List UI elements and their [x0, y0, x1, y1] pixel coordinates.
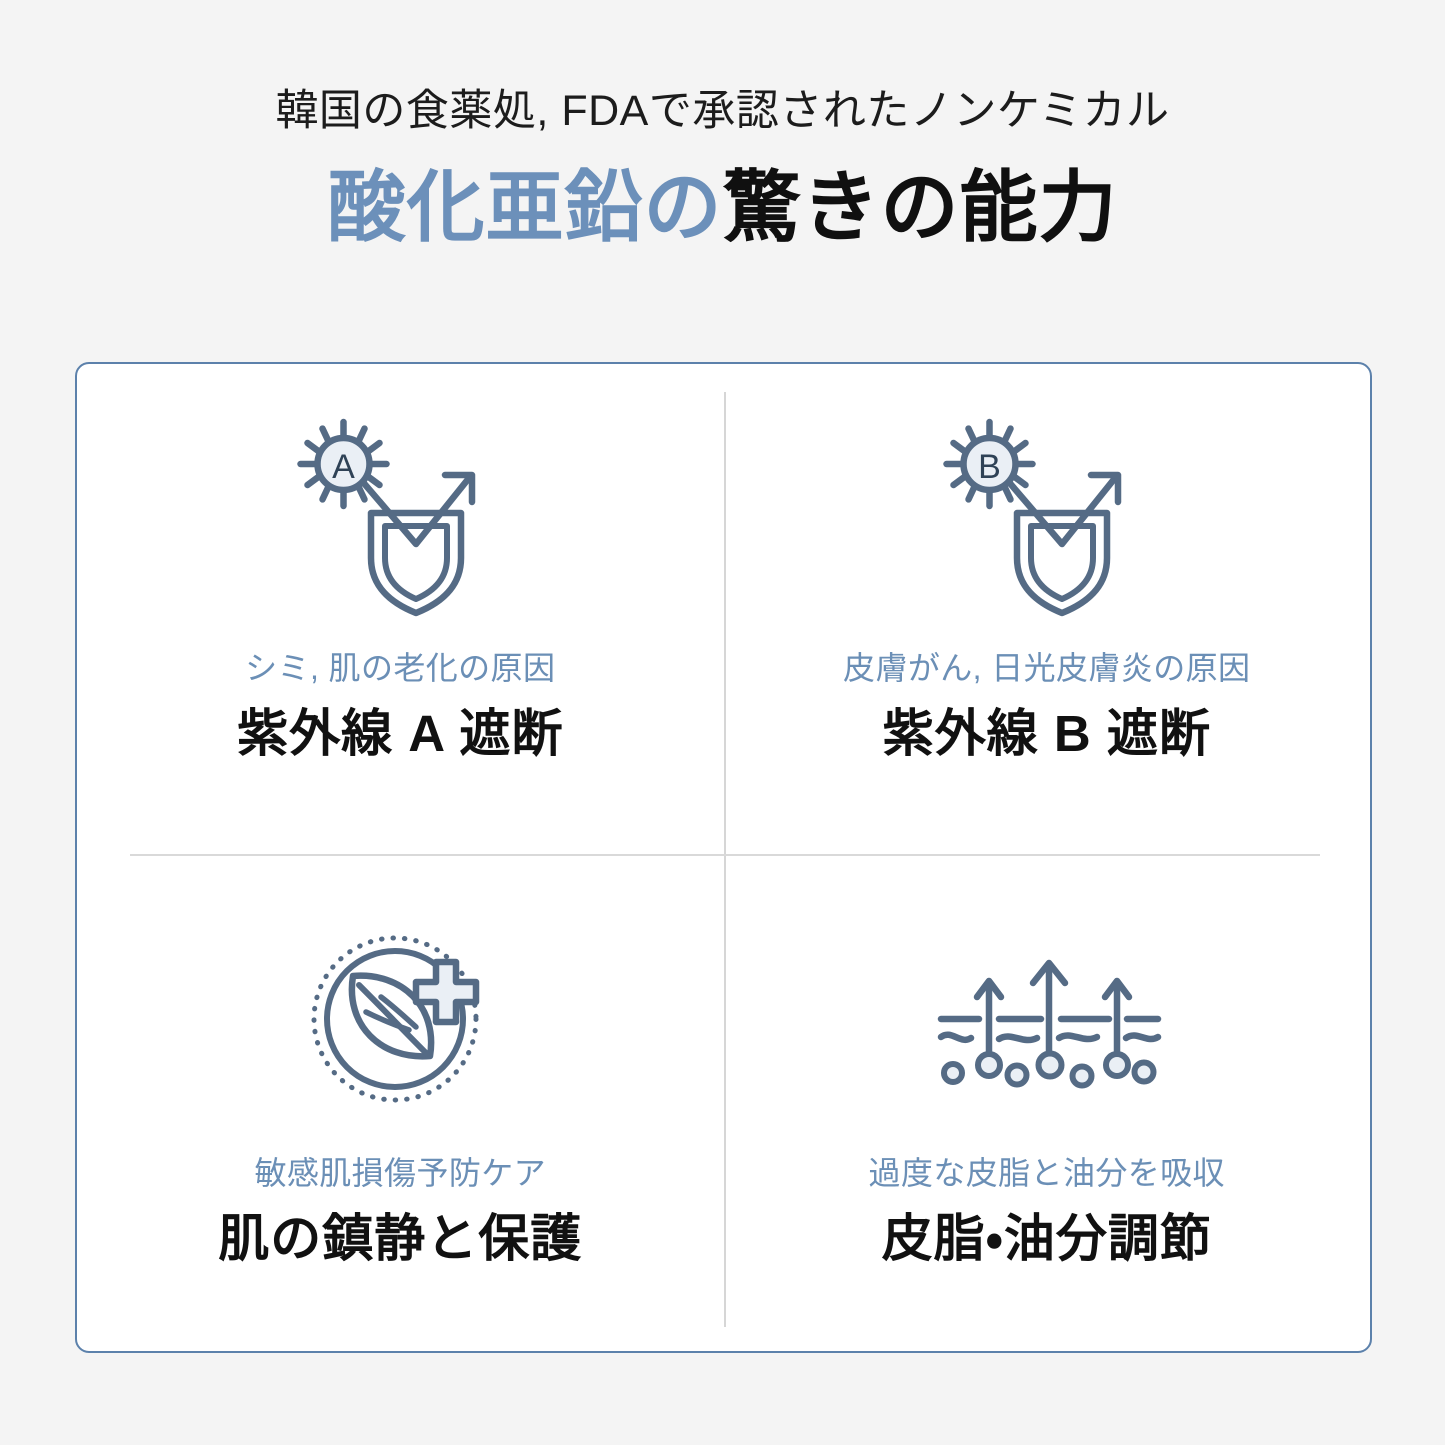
sun-badge-letter: A [332, 448, 355, 486]
header: 韓国の食薬処, FDAで承認されたノンケミカル 酸化亜鉛の驚きの能力 [0, 88, 1445, 250]
page-title-dark: 驚きの能力 [723, 163, 1118, 251]
feature-subtitle: 皮膚がん, 日光皮膚炎の原因 [843, 649, 1250, 687]
page-title-accent: 酸化亜鉛の [327, 163, 722, 251]
sun-shield-a-icon: A [293, 412, 508, 627]
feature-title: 紫外線 B 遮断 [883, 703, 1211, 764]
feature-subtitle: 過度な皮脂と油分を吸収 [869, 1154, 1225, 1192]
feature-card: A シミ, 肌の老化の原因 紫外線 A 遮断 [75, 362, 1372, 1353]
feature-grid: A シミ, 肌の老化の原因 紫外線 A 遮断 [77, 364, 1370, 1351]
promo-infographic: 韓国の食薬処, FDAで承認されたノンケミカル 酸化亜鉛の驚きの能力 [0, 0, 1445, 1445]
eyebrow-text: 韓国の食薬処, FDAで承認されたノンケミカル [0, 88, 1445, 135]
feature-title: 肌の鎮静と保護 [218, 1208, 582, 1269]
feature-item-uvb: B 皮膚がん, 日光皮膚炎の原因 紫外線 B 遮断 [724, 364, 1371, 858]
feature-item-soothing: 敏感肌損傷予防ケア 肌の鎮静と保護 [77, 858, 724, 1352]
sebum-absorption-icon [913, 924, 1181, 1114]
feature-subtitle: シミ, 肌の老化の原因 [245, 649, 555, 687]
sun-shield-b-icon: B [939, 412, 1154, 627]
feature-subtitle: 敏感肌損傷予防ケア [254, 1154, 546, 1192]
feature-title: 皮脂・油分調節 [882, 1208, 1212, 1269]
feature-title: 紫外線 A 遮断 [237, 703, 563, 764]
page-title: 酸化亜鉛の驚きの能力 [0, 165, 1445, 249]
feature-item-uva: A シミ, 肌の老化の原因 紫外線 A 遮断 [77, 364, 724, 858]
feature-item-sebum: 過度な皮脂と油分を吸収 皮脂・油分調節 [724, 858, 1371, 1352]
leaf-plus-circle-icon [305, 924, 495, 1114]
sun-badge-letter: B [978, 448, 1001, 486]
